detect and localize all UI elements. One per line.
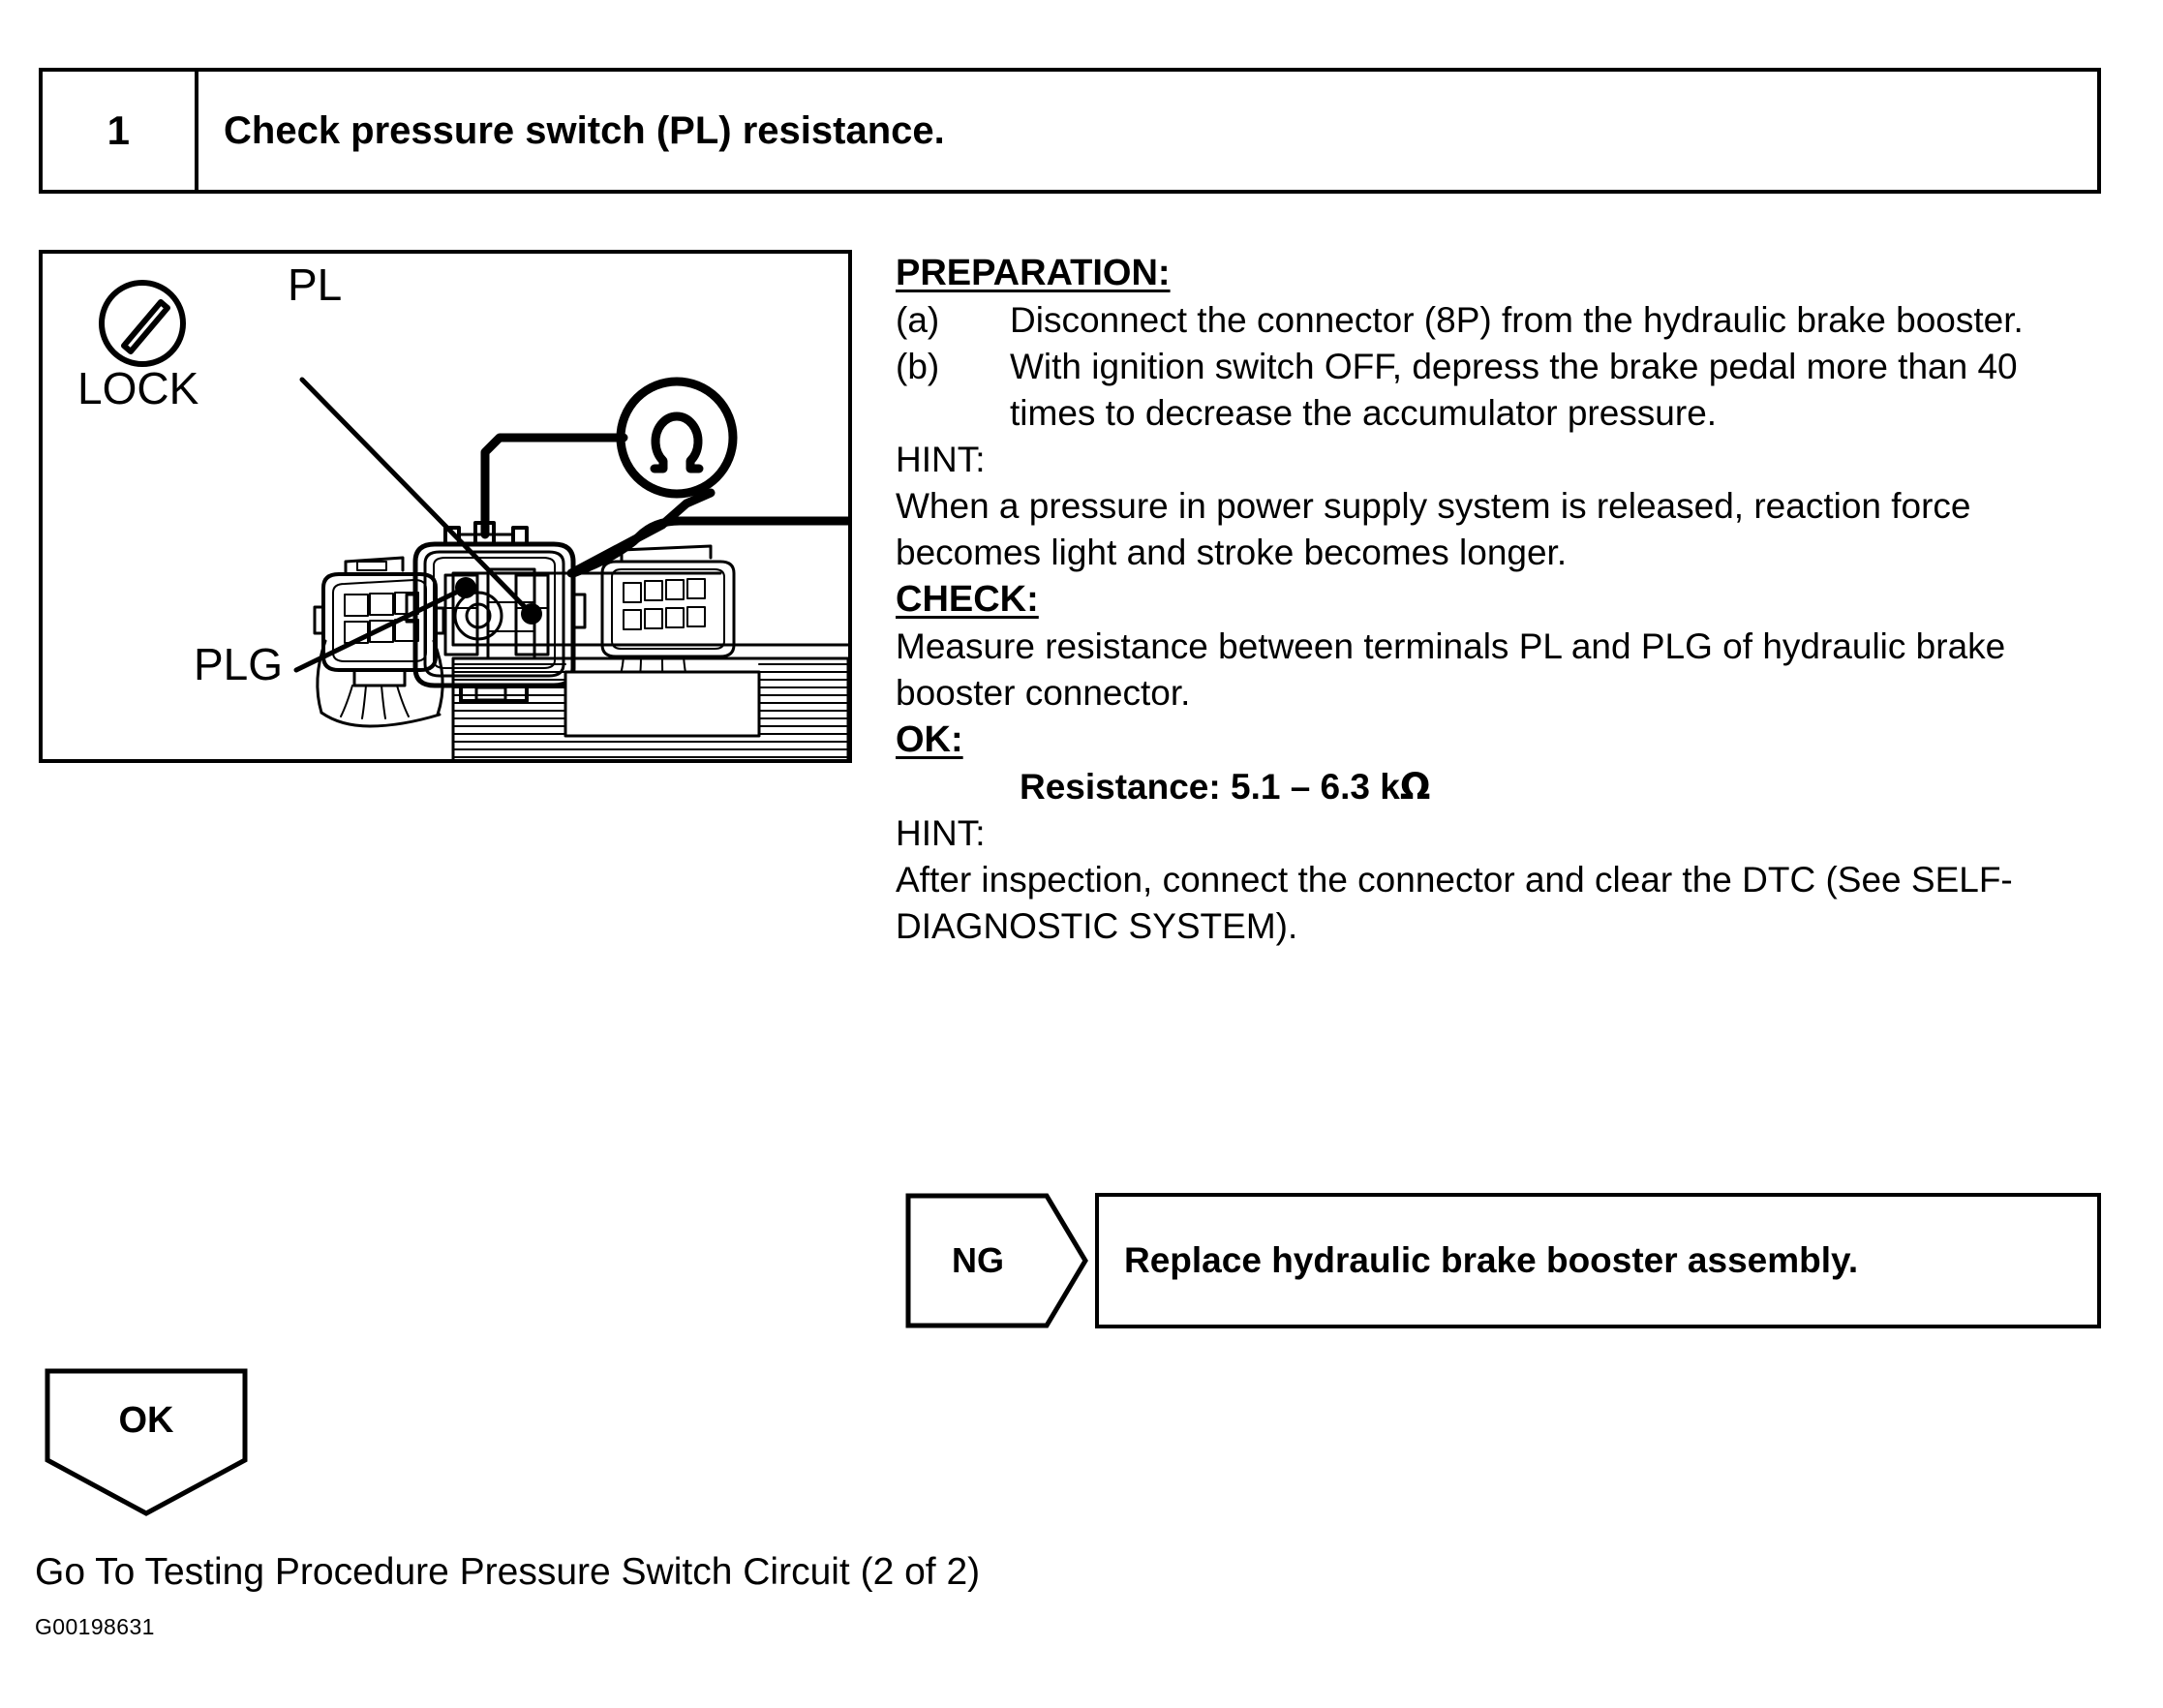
ng-branch: NG Replace hydraulic brake booster assem…: [905, 1193, 2101, 1328]
ok-heading: OK:: [896, 717, 2101, 764]
hint2-text: After inspection, connect the connector …: [896, 857, 2101, 950]
preparation-step-a: (a) Disconnect the connector (8P) from t…: [896, 297, 2101, 344]
preparation-heading: PREPARATION:: [896, 250, 2101, 297]
resistance-spec-label: Resistance: 5.1 – 6.3 k: [1020, 767, 1400, 807]
lock-icon: [102, 283, 183, 364]
step-a-marker: (a): [896, 297, 1010, 344]
step-b-text: With ignition switch OFF, depress the br…: [1010, 344, 2101, 437]
hint1-heading: HINT:: [896, 437, 2101, 483]
preparation-step-b: (b) With ignition switch OFF, depress th…: [896, 344, 2101, 437]
ok-label: OK: [44, 1375, 249, 1467]
step-number: 1: [43, 72, 198, 190]
lock-label: LOCK: [77, 363, 199, 413]
check-heading: CHECK:: [896, 576, 2101, 624]
hydraulic-booster-connector: [407, 523, 585, 701]
connector-illustration: LOCK PL PLG: [43, 254, 848, 759]
ng-label: NG: [905, 1193, 1051, 1328]
resistance-spec: Resistance: 5.1 – 6.3 kΩ: [896, 764, 2101, 810]
check-text: Measure resistance between terminals PL …: [896, 624, 2101, 717]
step-b-marker: (b): [896, 344, 1010, 437]
hint1-text: When a pressure in power supply system i…: [896, 483, 2101, 576]
goto-procedure-text: Go To Testing Procedure Pressure Switch …: [35, 1551, 980, 1594]
procedure-text-column: PREPARATION: (a) Disconnect the connecto…: [896, 250, 2101, 950]
plg-terminal-label: PLG: [194, 639, 283, 689]
hint2-heading: HINT:: [896, 810, 2101, 857]
step-title: Check pressure switch (PL) resistance.: [198, 72, 2097, 190]
ohm-unit-symbol: Ω: [1400, 766, 1430, 808]
figure-code: G00198631: [35, 1614, 155, 1640]
ng-action-text: Replace hydraulic brake booster assembly…: [1095, 1193, 2101, 1328]
step-header-bar: 1 Check pressure switch (PL) resistance.: [39, 68, 2101, 194]
ohmmeter-icon: [621, 381, 733, 494]
pl-terminal-label: PL: [288, 259, 342, 310]
step-a-text: Disconnect the connector (8P) from the h…: [1010, 297, 2101, 344]
illustration-panel: LOCK PL PLG: [39, 250, 852, 763]
